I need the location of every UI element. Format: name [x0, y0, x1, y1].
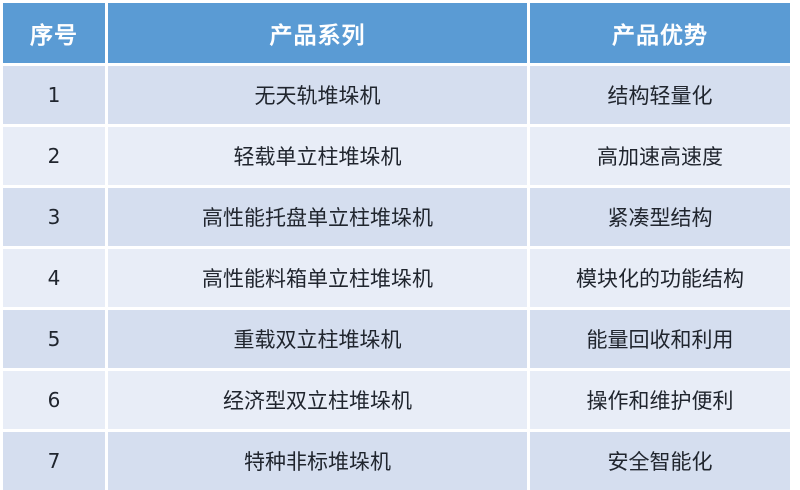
- table-header-row: 序号 产品系列 产品优势: [3, 3, 790, 66]
- cell-series: 经济型双立柱堆垛机: [108, 371, 530, 432]
- cell-series: 轻载单立柱堆垛机: [108, 127, 530, 188]
- cell-index: 1: [3, 66, 108, 127]
- table-row: 4 高性能料箱单立柱堆垛机 模块化的功能结构: [3, 249, 790, 310]
- cell-index: 2: [3, 127, 108, 188]
- table-body: 1 无天轨堆垛机 结构轻量化 2 轻载单立柱堆垛机 高加速高速度 3 高性能托盘…: [3, 66, 790, 490]
- cell-advantage: 安全智能化: [530, 432, 790, 490]
- cell-series: 高性能料箱单立柱堆垛机: [108, 249, 530, 310]
- cell-advantage: 能量回收和利用: [530, 310, 790, 371]
- table-header: 序号 产品系列 产品优势: [3, 3, 790, 66]
- table-row: 6 经济型双立柱堆垛机 操作和维护便利: [3, 371, 790, 432]
- cell-series: 特种非标堆垛机: [108, 432, 530, 490]
- cell-index: 3: [3, 188, 108, 249]
- cell-advantage: 结构轻量化: [530, 66, 790, 127]
- table-row: 3 高性能托盘单立柱堆垛机 紧凑型结构: [3, 188, 790, 249]
- product-table: 序号 产品系列 产品优势 1 无天轨堆垛机 结构轻量化 2 轻载单立柱堆垛机 高…: [3, 3, 790, 490]
- cell-index: 7: [3, 432, 108, 490]
- table-row: 2 轻载单立柱堆垛机 高加速高速度: [3, 127, 790, 188]
- column-header-series: 产品系列: [108, 3, 530, 66]
- cell-series: 无天轨堆垛机: [108, 66, 530, 127]
- cell-advantage: 模块化的功能结构: [530, 249, 790, 310]
- table-row: 1 无天轨堆垛机 结构轻量化: [3, 66, 790, 127]
- product-table-container: 序号 产品系列 产品优势 1 无天轨堆垛机 结构轻量化 2 轻载单立柱堆垛机 高…: [3, 3, 790, 473]
- table-row: 5 重载双立柱堆垛机 能量回收和利用: [3, 310, 790, 371]
- cell-advantage: 操作和维护便利: [530, 371, 790, 432]
- column-header-advantage: 产品优势: [530, 3, 790, 66]
- cell-series: 高性能托盘单立柱堆垛机: [108, 188, 530, 249]
- table-row: 7 特种非标堆垛机 安全智能化: [3, 432, 790, 490]
- cell-advantage: 高加速高速度: [530, 127, 790, 188]
- cell-series: 重载双立柱堆垛机: [108, 310, 530, 371]
- column-header-index: 序号: [3, 3, 108, 66]
- cell-index: 4: [3, 249, 108, 310]
- cell-index: 5: [3, 310, 108, 371]
- cell-advantage: 紧凑型结构: [530, 188, 790, 249]
- cell-index: 6: [3, 371, 108, 432]
